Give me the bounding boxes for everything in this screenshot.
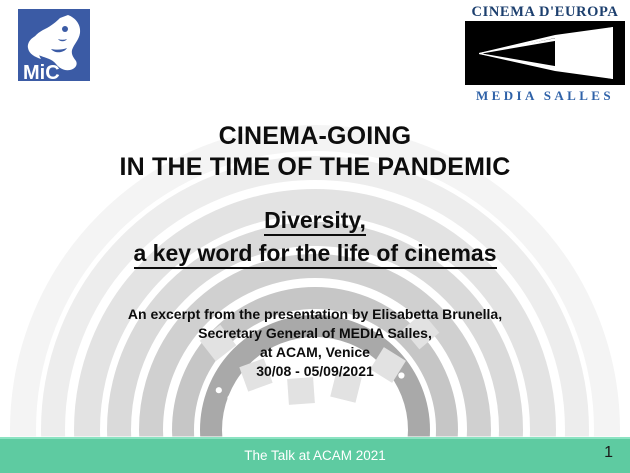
media-salles-projection-icon (465, 21, 625, 85)
media-salles-bottom-text: MEDIA SALLES (462, 87, 628, 104)
subtitle-line-1-text: Diversity, (264, 207, 366, 236)
mic-logo: MiC (18, 9, 90, 87)
presentation-slide: MiC CINEMA D'EUROPA MEDIA SALLES CINEMA-… (0, 0, 630, 473)
footer-text: The Talk at ACAM 2021 (0, 448, 630, 463)
page-number: 1 (604, 444, 613, 462)
media-salles-logo: CINEMA D'EUROPA MEDIA SALLES (462, 4, 628, 112)
media-salles-top-text: CINEMA D'EUROPA (462, 4, 628, 20)
credit-line-3: at ACAM, Venice (0, 344, 630, 360)
subtitle-line-2: a key word for the life of cinemas (0, 240, 630, 267)
mic-wordmark: MiC (23, 62, 60, 84)
credit-line-1: An excerpt from the presentation by Elis… (0, 306, 630, 322)
credit-line-4: 30/08 - 05/09/2021 (0, 363, 630, 379)
title-line-2: IN THE TIME OF THE PANDEMIC (0, 153, 630, 182)
subtitle-line-1: Diversity, (0, 207, 630, 234)
title-line-1: CINEMA-GOING (0, 122, 630, 151)
subtitle-line-2-text: a key word for the life of cinemas (134, 240, 497, 269)
footer-bar: The Talk at ACAM 2021 1 (0, 437, 630, 473)
credit-line-2: Secretary General of MEDIA Salles, (0, 325, 630, 341)
